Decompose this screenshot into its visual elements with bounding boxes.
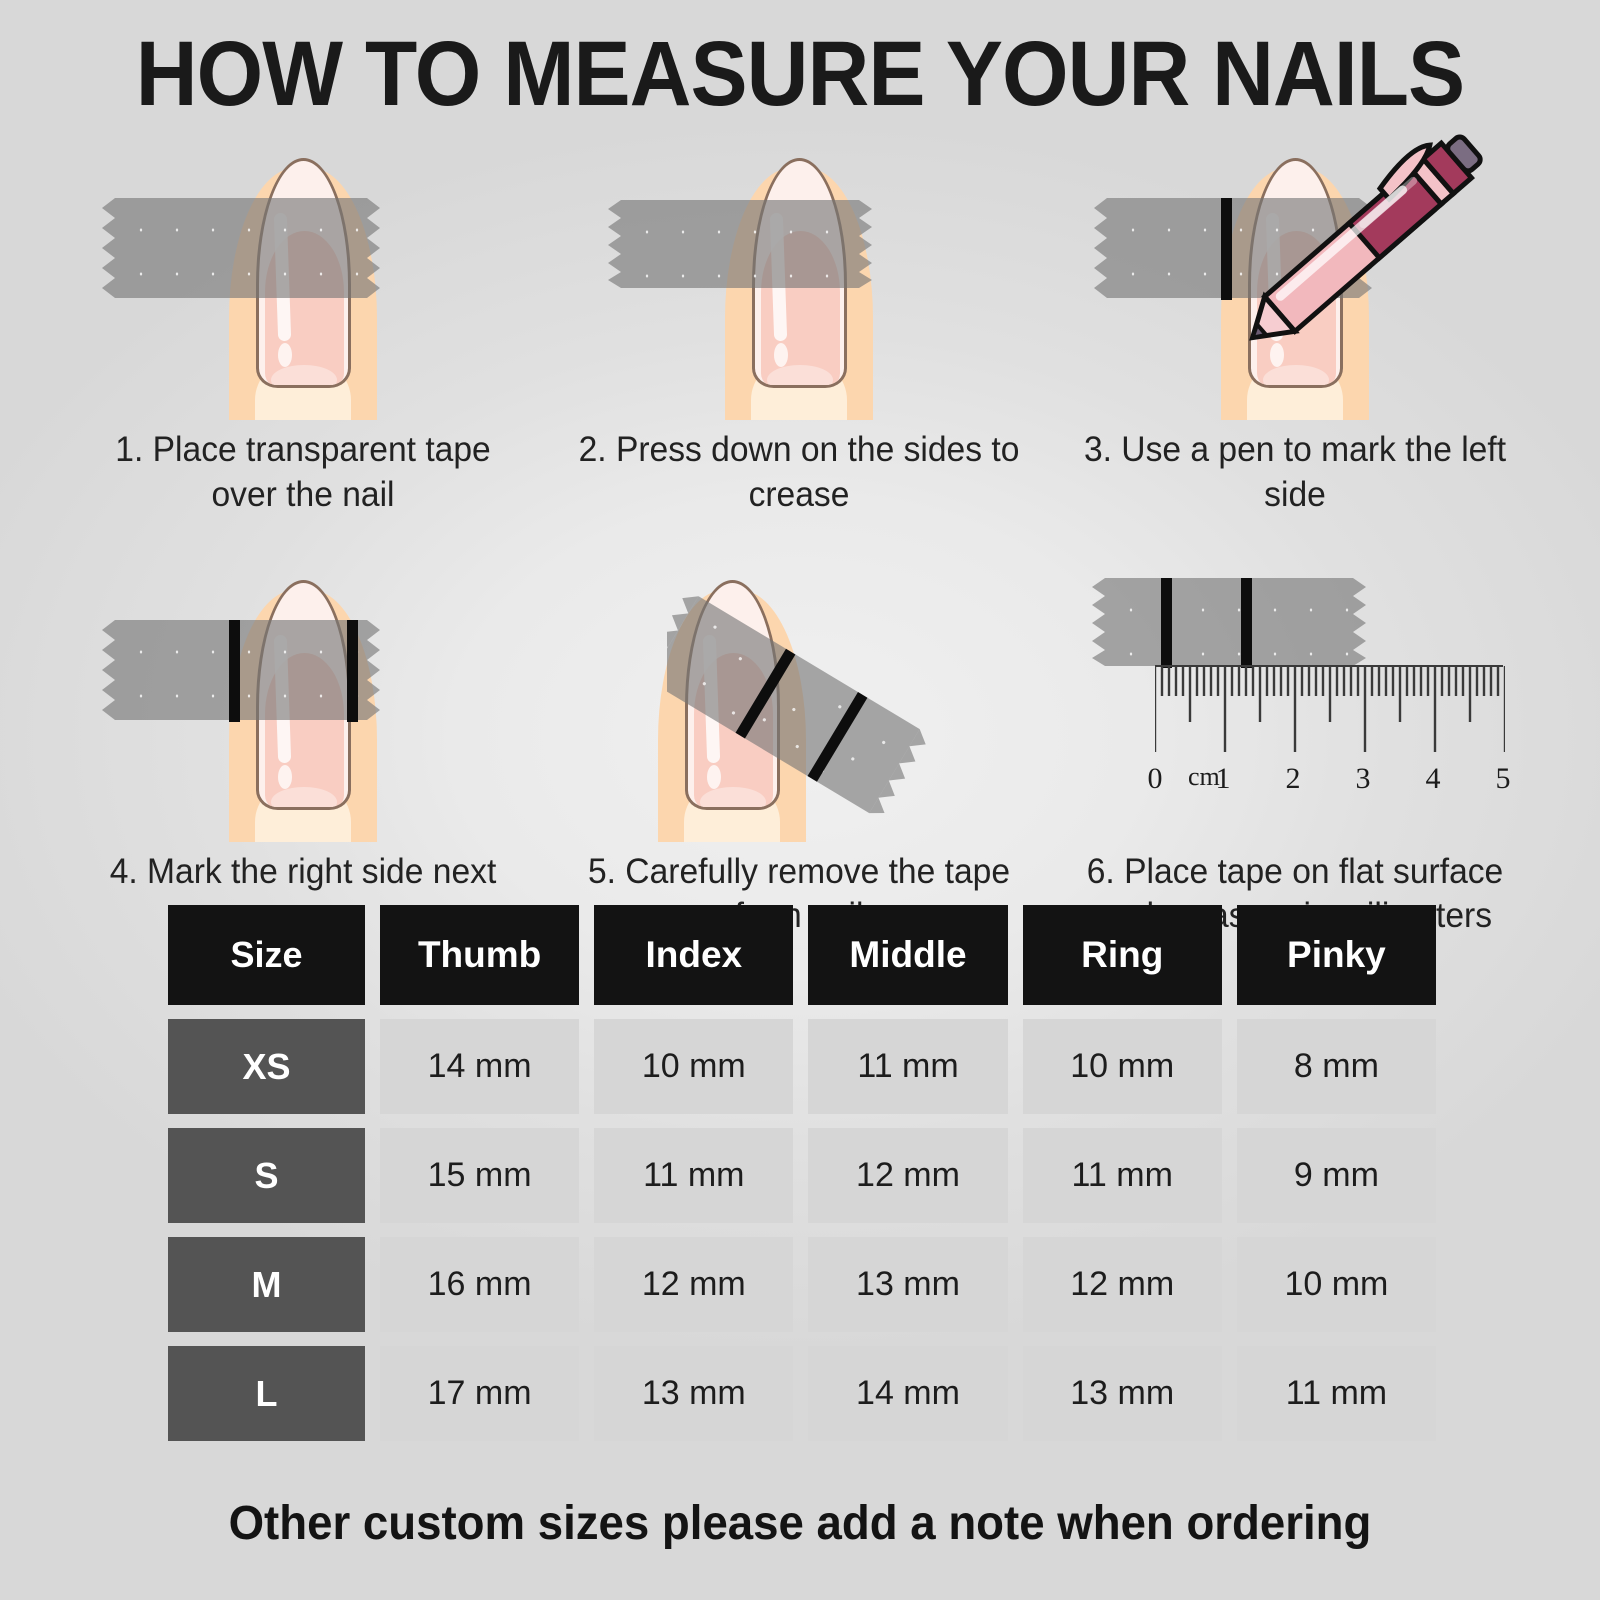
step-1-illustration	[93, 128, 513, 420]
tape-dots	[621, 200, 859, 288]
step-2-caption: 2. Press down on the sides to crease	[578, 428, 1020, 518]
ruler-tick-5: 5	[1496, 762, 1511, 796]
page-title: HOW TO MEASURE YOUR NAILS	[56, 28, 1544, 120]
tape-zigzag-left	[608, 200, 621, 288]
tape-zigzag-left	[102, 620, 115, 720]
step-4-illustration	[93, 550, 513, 842]
steps-row-bottom: 4. Mark the right side next	[55, 550, 1545, 940]
table-cell: 14 mm	[808, 1346, 1007, 1441]
step-1: 1. Place transparent tape over the nail	[55, 128, 551, 518]
table-header-thumb: Thumb	[380, 905, 579, 1005]
step-4-caption: 4. Mark the right side next	[82, 850, 524, 895]
table-header-pinky: Pinky	[1237, 905, 1436, 1005]
table-header-size: Size	[168, 905, 365, 1005]
pen-mark-right	[347, 620, 358, 722]
ruler-tick-0: 0	[1148, 762, 1163, 796]
footer-note: Other custom sizes please add a note whe…	[40, 1496, 1560, 1551]
table-cell: 12 mm	[808, 1128, 1007, 1223]
table-cell: 12 mm	[1023, 1237, 1222, 1332]
table-header-index: Index	[594, 905, 793, 1005]
table-cell: 15 mm	[380, 1128, 579, 1223]
ruler-illustration: 0 cm 1 2 3 4 5	[1085, 564, 1505, 834]
step-3: 3. Use a pen to mark the left side	[1047, 128, 1543, 518]
ruler-tick-2: 2	[1286, 762, 1301, 796]
table-header-ring: Ring	[1023, 905, 1222, 1005]
nail-shine-small	[774, 343, 788, 367]
pen-mark-left	[229, 620, 240, 722]
table-cell: 13 mm	[808, 1237, 1007, 1332]
table-cell: 8 mm	[1237, 1019, 1436, 1114]
step-6: 0 cm 1 2 3 4 5 6. Place tape on flat sur…	[1047, 550, 1543, 940]
step-5: 5. Carefully remove the tape from nail	[551, 550, 1047, 940]
nail-shine-small	[278, 343, 292, 367]
table-cell: 16 mm	[380, 1237, 579, 1332]
steps-row-top: 1. Place transparent tape over the nail	[55, 128, 1545, 518]
tape-strip	[115, 620, 367, 720]
tape-mark-right	[1241, 578, 1252, 668]
ruler-tick-4: 4	[1426, 762, 1441, 796]
tape-strip-creased	[621, 200, 859, 288]
table-cell: 11 mm	[1023, 1128, 1222, 1223]
table-cell: 13 mm	[1023, 1346, 1222, 1441]
tape-strip-flat	[1105, 578, 1353, 666]
step-1-caption: 1. Place transparent tape over the nail	[82, 428, 524, 518]
tape-zigzag-left	[102, 198, 115, 298]
step-5-illustration	[589, 550, 1009, 842]
nail-lunula	[271, 365, 337, 388]
table-cell: 9 mm	[1237, 1128, 1436, 1223]
tape-zigzag-right	[367, 198, 380, 298]
tape-dots	[1105, 578, 1353, 666]
tape-zigzag-left	[1094, 198, 1107, 298]
tape-zigzag-right	[859, 200, 872, 288]
ruler-tick-1: 1	[1216, 762, 1231, 796]
table-cell: 11 mm	[1237, 1346, 1436, 1441]
table-header-middle: Middle	[808, 905, 1007, 1005]
nail-lunula	[1263, 365, 1329, 388]
nail-lunula	[767, 365, 833, 388]
table-cell: 10 mm	[594, 1019, 793, 1114]
tape-mark-left	[1161, 578, 1172, 668]
table-row: XS 14 mm 10 mm 11 mm 10 mm 8 mm	[168, 1019, 1436, 1114]
tape-zigzag-left	[1092, 578, 1105, 666]
table-cell: 13 mm	[594, 1346, 793, 1441]
table-size-label: XS	[168, 1019, 365, 1114]
ruler-scale	[1155, 664, 1505, 774]
ruler-labels: 0 cm 1 2 3 4 5	[1155, 762, 1505, 802]
table-cell: 11 mm	[808, 1019, 1007, 1114]
step-3-caption: 3. Use a pen to mark the left side	[1074, 428, 1516, 518]
infographic-page: HOW TO MEASURE YOUR NAILS	[0, 0, 1600, 1600]
pen-icon	[1213, 114, 1513, 364]
tape-zigzag-right	[367, 620, 380, 720]
tape-zigzag-right	[1353, 578, 1366, 666]
table-row: M 16 mm 12 mm 13 mm 12 mm 10 mm	[168, 1237, 1436, 1332]
ruler-tick-3: 3	[1356, 762, 1371, 796]
table-cell: 10 mm	[1023, 1019, 1222, 1114]
table-cell: 10 mm	[1237, 1237, 1436, 1332]
table-cell: 17 mm	[380, 1346, 579, 1441]
tape-peeled	[667, 578, 1007, 828]
table-row: S 15 mm 11 mm 12 mm 11 mm 9 mm	[168, 1128, 1436, 1223]
tape-dots	[115, 620, 367, 720]
table-size-label: S	[168, 1128, 365, 1223]
table-row: L 17 mm 13 mm 14 mm 13 mm 11 mm	[168, 1346, 1436, 1441]
step-4: 4. Mark the right side next	[55, 550, 551, 940]
nail-lunula	[271, 787, 337, 810]
table-cell: 11 mm	[594, 1128, 793, 1223]
step-2: 2. Press down on the sides to crease	[551, 128, 1047, 518]
table-cell: 12 mm	[594, 1237, 793, 1332]
table-cell: 14 mm	[380, 1019, 579, 1114]
steps-container: 1. Place transparent tape over the nail	[55, 128, 1545, 939]
table-size-label: M	[168, 1237, 365, 1332]
step-6-illustration: 0 cm 1 2 3 4 5	[1085, 550, 1505, 842]
table-header-row: Size Thumb Index Middle Ring Pinky	[168, 905, 1436, 1005]
tape-strip	[115, 198, 367, 298]
step-2-illustration	[589, 128, 1009, 420]
step-3-illustration	[1085, 128, 1505, 420]
table-size-label: L	[168, 1346, 365, 1441]
tape-dots	[115, 198, 367, 298]
size-table: Size Thumb Index Middle Ring Pinky XS 14…	[168, 905, 1436, 1455]
nail-shine-small	[278, 765, 292, 789]
